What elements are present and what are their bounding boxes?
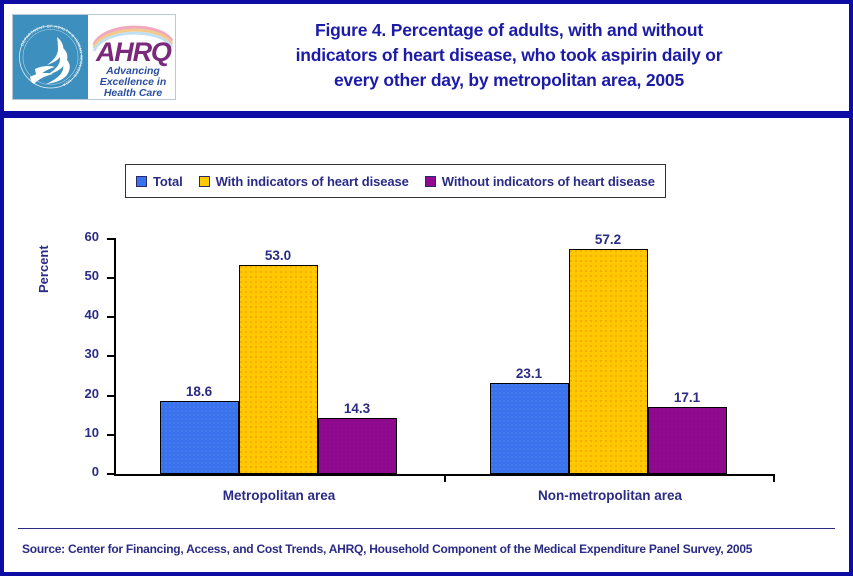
page-title-line-1: Figure 4. Percentage of adults, with and… <box>184 18 834 43</box>
svg-text:AHRQ: AHRQ <box>95 37 172 67</box>
legend-item-with-indicators: With indicators of heart disease <box>199 174 409 189</box>
legend-swatch-total <box>136 176 147 187</box>
bar-metropolitan-without-indicators <box>318 418 397 474</box>
ahrq-wordmark: AHRQ Advancing Excellence in Health Care <box>88 15 175 99</box>
y-tick-label-50: 50 <box>59 268 99 283</box>
y-tick-label-40: 40 <box>59 307 99 322</box>
agency-logo: DEPARTMENT OF HEALTH & HUMAN SERVICES · … <box>12 14 176 100</box>
legend-swatch-without-indicators <box>425 176 436 187</box>
x-tick-group-divider <box>444 474 446 482</box>
bar-nonmetropolitan-without-indicators <box>648 407 727 474</box>
bar-label-metropolitan-with-indicators: 53.0 <box>243 248 313 263</box>
bar-label-nonmetropolitan-without-indicators: 17.1 <box>652 390 722 405</box>
y-tick-label-10: 10 <box>59 425 99 440</box>
chart-legend: Total With indicators of heart disease W… <box>125 164 666 198</box>
source-note: Source: Center for Financing, Access, an… <box>22 542 752 556</box>
x-category-label-nonmetropolitan: Non-metropolitan area <box>480 488 740 503</box>
page-title: Figure 4. Percentage of adults, with and… <box>184 18 834 93</box>
legend-label-total: Total <box>153 174 183 189</box>
svg-text:Health Care: Health Care <box>104 87 163 99</box>
y-tick-label-60: 60 <box>59 229 99 244</box>
page-title-line-2: indicators of heart disease, who took as… <box>184 43 834 68</box>
bar-nonmetropolitan-total <box>490 383 569 474</box>
header-divider <box>4 111 849 118</box>
legend-item-total: Total <box>136 174 183 189</box>
figure-page: DEPARTMENT OF HEALTH & HUMAN SERVICES · … <box>0 0 853 576</box>
y-tick-label-30: 30 <box>59 346 99 361</box>
bar-label-nonmetropolitan-with-indicators: 57.2 <box>573 232 643 247</box>
legend-label-without-indicators: Without indicators of heart disease <box>442 174 655 189</box>
footer-divider <box>18 528 835 529</box>
y-tick-label-0: 0 <box>59 464 99 479</box>
legend-item-without-indicators: Without indicators of heart disease <box>425 174 655 189</box>
x-tick-axis-end <box>773 474 775 482</box>
legend-swatch-with-indicators <box>199 176 210 187</box>
y-tick-label-20: 20 <box>59 386 99 401</box>
plot-area: 18.6 53.0 14.3 23.1 57.2 17.1 <box>114 238 774 474</box>
hhs-seal-icon: DEPARTMENT OF HEALTH & HUMAN SERVICES · … <box>13 15 88 99</box>
page-title-line-3: every other day, by metropolitan area, 2… <box>184 68 834 93</box>
bar-label-metropolitan-without-indicators: 14.3 <box>322 401 392 416</box>
y-axis-label: Percent <box>36 277 51 293</box>
figure-header: DEPARTMENT OF HEALTH & HUMAN SERVICES · … <box>4 4 849 111</box>
svg-text:DEPARTMENT OF HEALTH & HUMAN S: DEPARTMENT OF HEALTH & HUMAN SERVICES · … <box>19 23 84 87</box>
bar-label-nonmetropolitan-total: 23.1 <box>494 366 564 381</box>
x-category-label-metropolitan: Metropolitan area <box>149 488 409 503</box>
legend-label-with-indicators: With indicators of heart disease <box>216 174 409 189</box>
bar-nonmetropolitan-with-indicators <box>569 249 648 474</box>
bar-label-metropolitan-total: 18.6 <box>164 384 234 399</box>
bar-metropolitan-total <box>160 401 239 474</box>
bar-metropolitan-with-indicators <box>239 265 318 474</box>
